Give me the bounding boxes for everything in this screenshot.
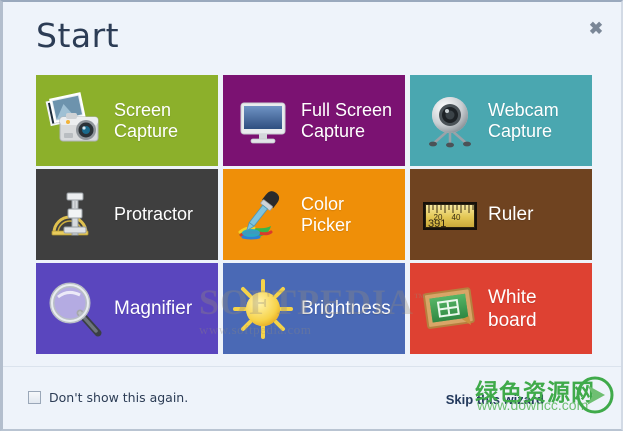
tile-label: Ruler [488, 203, 533, 226]
start-wizard-window: Start ✖ [0, 0, 623, 431]
tile-label: Protractor [114, 204, 193, 225]
tile-brightness[interactable]: Brightness [223, 263, 405, 354]
tile-white-board[interactable]: White board [410, 263, 592, 354]
tile-color-picker[interactable]: Color Picker [223, 169, 405, 260]
tile-label: Color Picker [301, 194, 351, 236]
tile-label: Magnifier [114, 297, 192, 320]
caliper-protractor-icon [44, 183, 108, 247]
ruler-value: 391 [428, 218, 446, 230]
dont-show-again-checkbox[interactable] [28, 391, 41, 404]
tile-label: Screen Capture [114, 100, 178, 142]
webcam-icon [418, 89, 482, 153]
monitor-icon [231, 89, 295, 153]
page-title: Start [36, 16, 119, 55]
camera-photos-icon [44, 89, 108, 153]
tile-label: White board [488, 286, 537, 332]
tile-label: Webcam Capture [488, 100, 559, 142]
eyedropper-icon [231, 183, 295, 247]
tile-screen-capture[interactable]: Screen Capture [36, 75, 218, 166]
tile-full-screen-capture[interactable]: Full Screen Capture [223, 75, 405, 166]
tile-webcam-capture[interactable]: Webcam Capture [410, 75, 592, 166]
window-footer: Don't show this again. Skip this wizard [3, 366, 621, 429]
tile-grid: Screen Capture [36, 75, 592, 355]
skip-wizard-link[interactable]: Skip this wizard [446, 392, 544, 407]
tile-protractor[interactable]: Protractor [36, 169, 218, 260]
tile-label: Brightness [301, 297, 391, 320]
tile-label: Full Screen Capture [301, 100, 392, 142]
chalkboard-icon [418, 277, 482, 341]
tile-magnifier[interactable]: Magnifier [36, 263, 218, 354]
close-icon[interactable]: ✖ [585, 18, 607, 40]
sun-icon [231, 277, 295, 341]
tile-ruler[interactable]: 20 40 391 Ruler [410, 169, 592, 260]
ruler-tick-40: 40 [452, 213, 461, 222]
ruler-icon: 20 40 391 [418, 183, 482, 247]
window-header: Start ✖ [3, 2, 621, 70]
dont-show-again-label: Don't show this again. [49, 390, 188, 405]
dont-show-again-row[interactable]: Don't show this again. [28, 390, 188, 405]
magnifying-glass-icon [44, 277, 108, 341]
